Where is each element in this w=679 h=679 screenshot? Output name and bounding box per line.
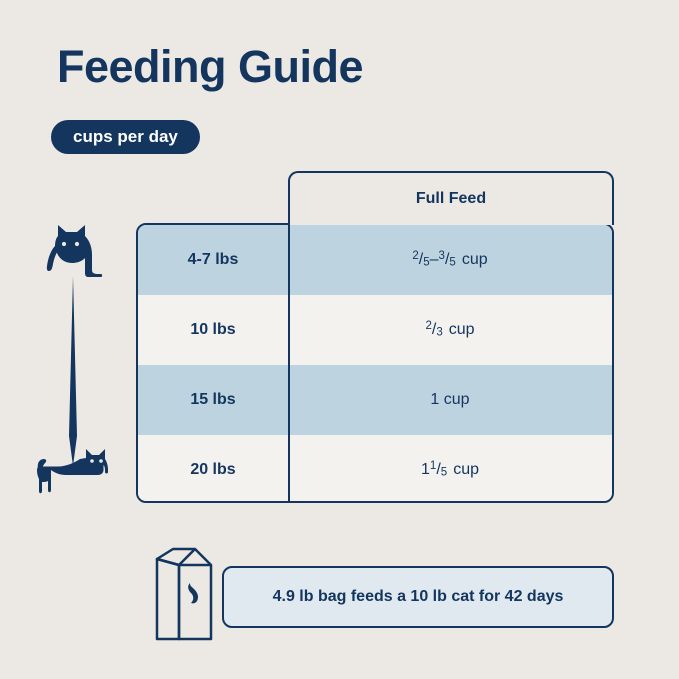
bag-duration-label: 4.9 lb bag feeds a 10 lb cat for 42 days bbox=[273, 588, 564, 606]
cell-weight: 15 lbs bbox=[138, 365, 288, 435]
cell-weight: 4-7 lbs bbox=[138, 225, 288, 295]
feeding-table: 4-7 lbs2/5 – 3/5cup10 lbs2/3cup15 lbs1 c… bbox=[136, 223, 614, 503]
table-column-header: Full Feed bbox=[288, 171, 614, 225]
cell-amount: 1 cup bbox=[288, 365, 612, 435]
cups-per-day-badge: cups per day bbox=[51, 120, 200, 154]
table-column-divider bbox=[288, 223, 290, 503]
table-row: 15 lbs1 cup bbox=[138, 365, 612, 435]
food-bag-icon bbox=[145, 543, 227, 645]
cat-sitting-icon bbox=[44, 222, 104, 284]
table-rows: 4-7 lbs2/5 – 3/5cup10 lbs2/3cup15 lbs1 c… bbox=[138, 225, 612, 503]
page-title: Feeding Guide bbox=[57, 44, 363, 89]
cell-amount: 2/3cup bbox=[288, 295, 612, 365]
cups-per-day-label: cups per day bbox=[73, 127, 178, 147]
bag-duration-note: 4.9 lb bag feeds a 10 lb cat for 42 days bbox=[222, 566, 614, 628]
cat-walking-icon bbox=[36, 448, 108, 496]
cell-weight: 10 lbs bbox=[138, 295, 288, 365]
table-row: 4-7 lbs2/5 – 3/5cup bbox=[138, 225, 612, 295]
table-row: 10 lbs2/3cup bbox=[138, 295, 612, 365]
height-marker-icon bbox=[62, 276, 84, 466]
table-row: 20 lbs1 1/5cup bbox=[138, 435, 612, 503]
cell-weight: 20 lbs bbox=[138, 435, 288, 503]
cell-amount: 1 1/5cup bbox=[288, 435, 612, 503]
cell-amount: 2/5 – 3/5cup bbox=[288, 225, 612, 295]
feeding-guide-page: Feeding Guide cups per day Full Feed 4-7… bbox=[0, 0, 679, 679]
column-header-label: Full Feed bbox=[416, 190, 486, 208]
